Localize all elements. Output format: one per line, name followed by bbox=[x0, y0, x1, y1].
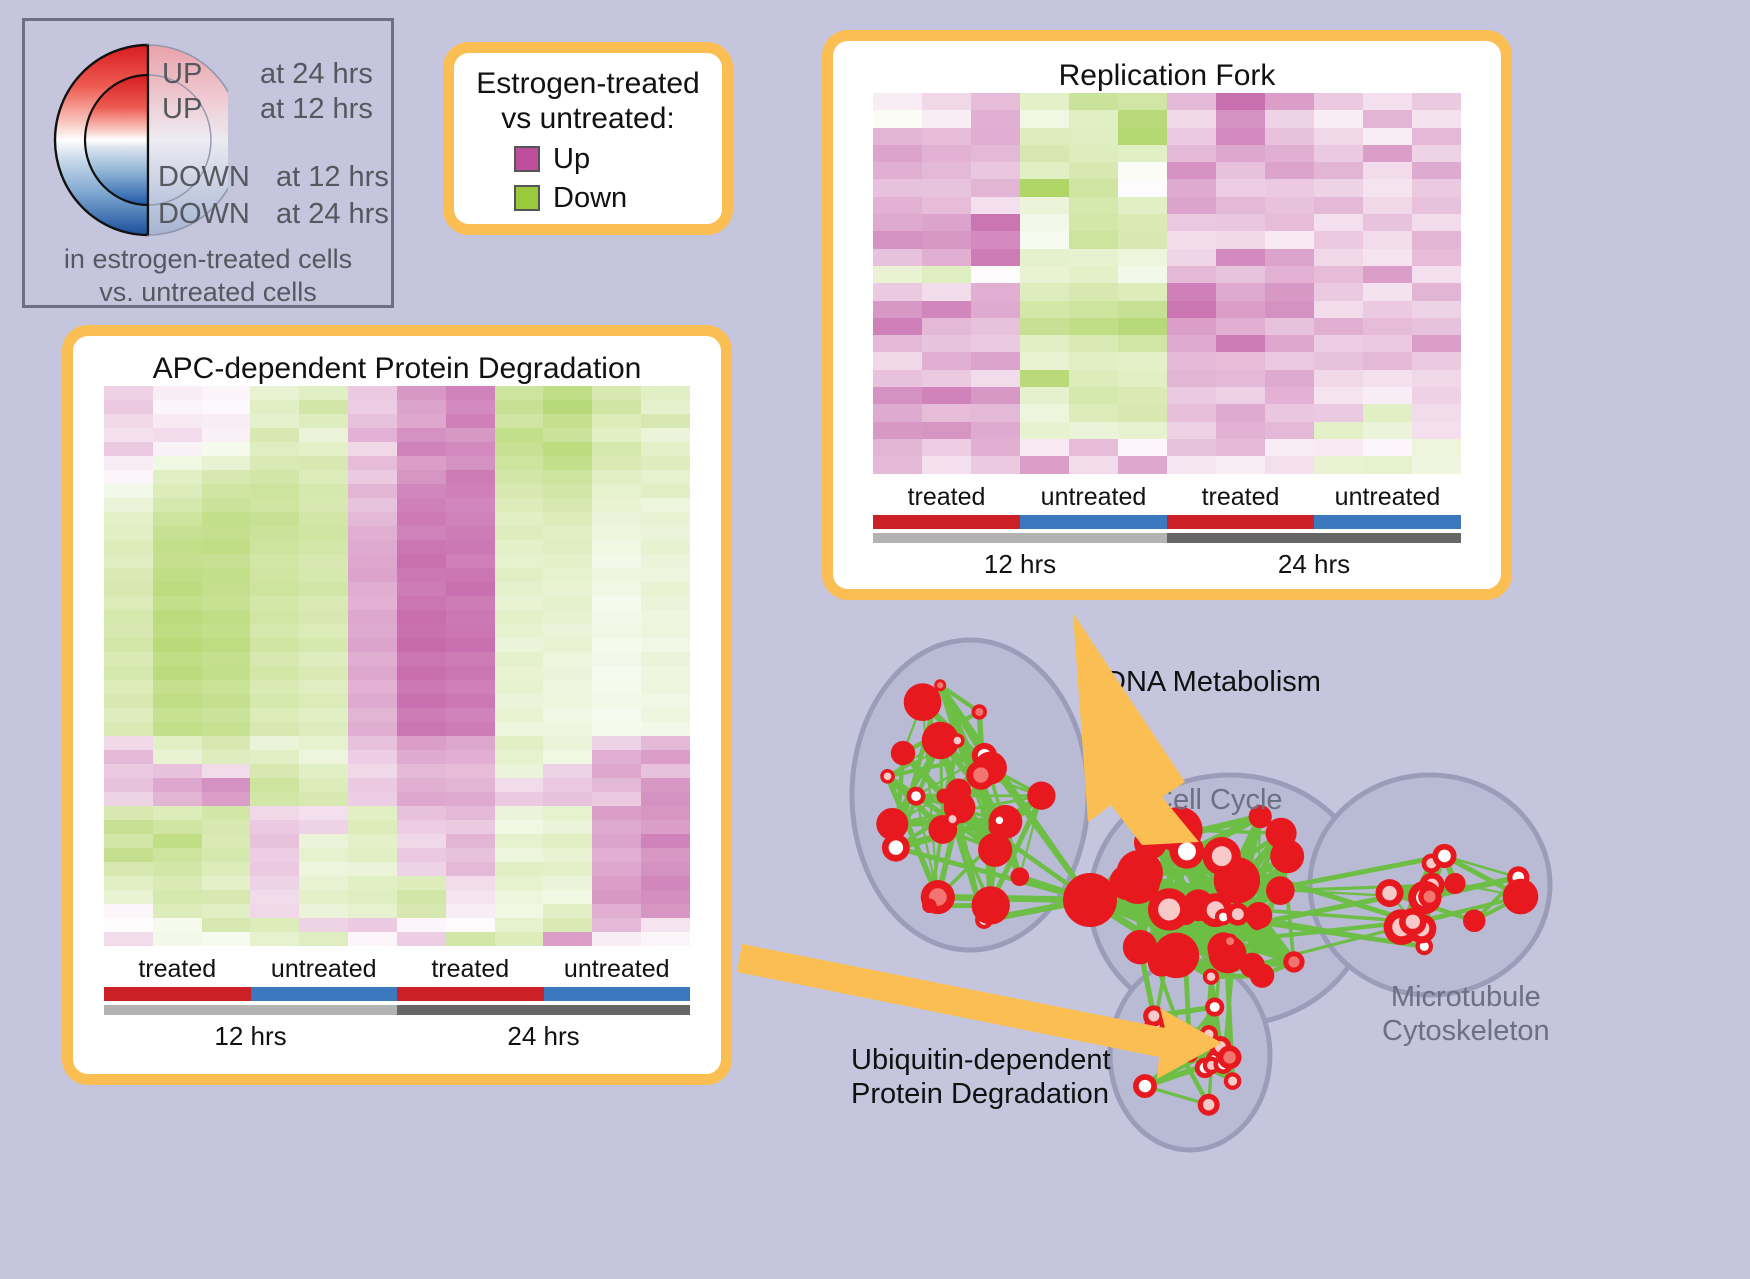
cluster-label-microtubule-cytoskeleton: Microtubule Cytoskeleton bbox=[1382, 980, 1550, 1048]
heatmap-cell bbox=[1412, 93, 1461, 110]
heatmap-cell bbox=[543, 582, 592, 596]
heatmap-cell bbox=[641, 428, 690, 442]
heatmap-cell bbox=[1314, 352, 1363, 369]
heatmap-cell bbox=[250, 652, 299, 666]
heatmap-cell bbox=[1363, 422, 1412, 439]
heatmap-cell bbox=[1265, 422, 1314, 439]
heatmap-cell bbox=[1167, 162, 1216, 179]
heatmap-cell bbox=[1314, 128, 1363, 145]
heatmap-cell bbox=[543, 848, 592, 862]
heatmap-cell bbox=[250, 428, 299, 442]
heatmap-cell bbox=[592, 918, 641, 932]
heatmap-cell bbox=[592, 470, 641, 484]
heatmap-cell bbox=[299, 386, 348, 400]
heatmap-cell bbox=[299, 456, 348, 470]
heatmap-cell bbox=[592, 400, 641, 414]
heatmap-cell bbox=[1314, 93, 1363, 110]
heatmap-cell bbox=[104, 512, 153, 526]
network-node bbox=[966, 760, 995, 789]
apc-group-label-1: untreated bbox=[251, 955, 398, 984]
heatmap-cell bbox=[202, 456, 251, 470]
colorbar-row-2-direction: DOWN bbox=[158, 161, 250, 194]
heatmap-cell bbox=[1118, 179, 1167, 196]
heatmap-cell bbox=[153, 652, 202, 666]
heatmap-cell bbox=[971, 214, 1020, 231]
heatmap-cell bbox=[592, 568, 641, 582]
heatmap-cell bbox=[1363, 93, 1412, 110]
heatmap-cell bbox=[446, 806, 495, 820]
heatmap-cell bbox=[1216, 283, 1265, 300]
heatmap-cell bbox=[641, 722, 690, 736]
heatmap-cell bbox=[1412, 197, 1461, 214]
heatmap-cell bbox=[348, 778, 397, 792]
heatmap-cell bbox=[971, 422, 1020, 439]
network-node bbox=[1143, 1005, 1164, 1026]
heatmap-cell bbox=[543, 834, 592, 848]
network-node bbox=[880, 769, 895, 784]
heatmap-cell bbox=[1069, 352, 1118, 369]
heatmap-cell bbox=[446, 386, 495, 400]
colorbar-footer-line2: vs. untreated cells bbox=[25, 276, 391, 309]
heatmap-cell bbox=[104, 540, 153, 554]
heatmap-cell bbox=[1363, 214, 1412, 231]
heatmap-cell bbox=[495, 736, 544, 750]
heatmap-cell bbox=[543, 862, 592, 876]
heatmap-cell bbox=[971, 145, 1020, 162]
heatmap-cell bbox=[153, 582, 202, 596]
heatmap-cell bbox=[1118, 162, 1167, 179]
heatmap-cell bbox=[922, 439, 971, 456]
apc-group-label-2: treated bbox=[397, 955, 544, 984]
heatmap-cell bbox=[299, 918, 348, 932]
heatmap-cell bbox=[250, 470, 299, 484]
heatmap-cell bbox=[922, 456, 971, 473]
heatmap-cell bbox=[1363, 404, 1412, 421]
heatmap-cell bbox=[104, 806, 153, 820]
heatmap-cell bbox=[250, 792, 299, 806]
heatmap-cell bbox=[348, 792, 397, 806]
heatmap-cell bbox=[1020, 335, 1069, 352]
heatmap-cell bbox=[1118, 266, 1167, 283]
heatmap-cell bbox=[543, 512, 592, 526]
heatmap-cell bbox=[1412, 370, 1461, 387]
heatmap-cell bbox=[592, 526, 641, 540]
heatmap-cell bbox=[1167, 456, 1216, 473]
heatmap-cell bbox=[299, 820, 348, 834]
rf-bar-treated-12 bbox=[873, 515, 1020, 529]
heatmap-cell bbox=[641, 512, 690, 526]
heatmap-cell bbox=[202, 400, 251, 414]
heatmap-cell bbox=[397, 918, 446, 932]
heatmap-cell bbox=[873, 352, 922, 369]
heatmap-cell bbox=[299, 862, 348, 876]
heatmap-cell bbox=[250, 722, 299, 736]
heatmap-cell bbox=[971, 456, 1020, 473]
heatmap-cell bbox=[543, 680, 592, 694]
apc-group-label-0: treated bbox=[104, 955, 251, 984]
heatmap-cell bbox=[1216, 352, 1265, 369]
heatmap-cell bbox=[202, 904, 251, 918]
heatmap-cell bbox=[299, 848, 348, 862]
heatmap-cell bbox=[922, 283, 971, 300]
colorbar-row-1-direction: UP bbox=[162, 93, 202, 126]
rf-time-bar-24 bbox=[1167, 533, 1461, 543]
heatmap-cell bbox=[1167, 283, 1216, 300]
heatmap-cell bbox=[1118, 370, 1167, 387]
heatmap-cell bbox=[592, 666, 641, 680]
heatmap-cell bbox=[641, 498, 690, 512]
heatmap-cell bbox=[543, 526, 592, 540]
heatmap-cell bbox=[348, 904, 397, 918]
heatmap-cell bbox=[153, 890, 202, 904]
apc-heatmap bbox=[104, 386, 690, 946]
heatmap-cell bbox=[348, 722, 397, 736]
heatmap-cell bbox=[1118, 249, 1167, 266]
heatmap-cell bbox=[1412, 318, 1461, 335]
heatmap-cell bbox=[250, 596, 299, 610]
heatmap-cell bbox=[592, 834, 641, 848]
heatmap-cell bbox=[104, 638, 153, 652]
colorbar-row-3-direction: DOWN bbox=[158, 198, 250, 231]
heatmap-cell bbox=[397, 386, 446, 400]
heatmap-cell bbox=[1412, 249, 1461, 266]
heatmap-cell bbox=[641, 470, 690, 484]
heatmap-cell bbox=[397, 792, 446, 806]
cluster-label-cell-cycle: Cell Cycle bbox=[1152, 783, 1283, 817]
heatmap-cell bbox=[397, 680, 446, 694]
colorbar-row-3-time: at 24 hrs bbox=[276, 198, 389, 231]
heatmap-cell bbox=[153, 540, 202, 554]
network-node bbox=[1245, 902, 1272, 929]
heatmap-cell bbox=[299, 708, 348, 722]
heatmap-cell bbox=[1314, 110, 1363, 127]
heatmap-cell bbox=[543, 722, 592, 736]
heatmap-cell bbox=[397, 512, 446, 526]
network-node bbox=[1198, 1094, 1220, 1116]
heatmap-cell bbox=[1118, 456, 1167, 473]
heatmap-cell bbox=[1265, 318, 1314, 335]
heatmap-cell bbox=[202, 568, 251, 582]
colorbar-row-2-time: at 12 hrs bbox=[276, 161, 389, 194]
network-node bbox=[1063, 873, 1117, 927]
heatmap-cell bbox=[153, 484, 202, 498]
network-node bbox=[972, 704, 987, 719]
network-node bbox=[1283, 951, 1304, 972]
heatmap-cell bbox=[250, 876, 299, 890]
heatmap-cell bbox=[348, 428, 397, 442]
heatmap-cell bbox=[446, 680, 495, 694]
heatmap-cell bbox=[1069, 110, 1118, 127]
heatmap-cell bbox=[1412, 214, 1461, 231]
heatmap-cell bbox=[1167, 439, 1216, 456]
heatmap-cell bbox=[971, 128, 1020, 145]
heatmap-cell bbox=[250, 568, 299, 582]
heatmap-cell bbox=[1363, 249, 1412, 266]
apc-bar-treated-24 bbox=[397, 987, 544, 1001]
rf-time-label-12: 12 hrs bbox=[873, 549, 1167, 580]
heatmap-cell bbox=[543, 638, 592, 652]
heatmap-cell bbox=[348, 806, 397, 820]
heatmap-cell bbox=[202, 414, 251, 428]
heatmap-cell bbox=[495, 666, 544, 680]
heatmap-cell bbox=[1314, 179, 1363, 196]
network-node bbox=[1399, 908, 1427, 936]
heatmap-cell bbox=[1412, 128, 1461, 145]
heatmap-cell bbox=[592, 386, 641, 400]
heatmap-cell bbox=[348, 680, 397, 694]
heatmap-cell bbox=[641, 778, 690, 792]
heatmap-cell bbox=[446, 498, 495, 512]
heatmap-cell bbox=[1314, 387, 1363, 404]
heatmap-cell bbox=[873, 439, 922, 456]
heatmap-cell bbox=[250, 820, 299, 834]
heatmap-cell bbox=[104, 708, 153, 722]
heatmap-cell bbox=[446, 834, 495, 848]
heatmap-cell bbox=[299, 904, 348, 918]
heatmap-cell bbox=[971, 231, 1020, 248]
heatmap-cell bbox=[592, 582, 641, 596]
heatmap-cell bbox=[250, 442, 299, 456]
heatmap-cell bbox=[202, 820, 251, 834]
heatmap-cell bbox=[971, 335, 1020, 352]
heatmap-cell bbox=[873, 214, 922, 231]
heatmap-cell bbox=[202, 848, 251, 862]
heatmap-cell bbox=[348, 386, 397, 400]
heatmap-cell bbox=[971, 110, 1020, 127]
heatmap-cell bbox=[495, 512, 544, 526]
heatmap-cell bbox=[543, 484, 592, 498]
heatmap-cell bbox=[1216, 231, 1265, 248]
heatmap-cell bbox=[641, 484, 690, 498]
heatmap-cell bbox=[397, 904, 446, 918]
heatmap-cell bbox=[250, 778, 299, 792]
heatmap-cell bbox=[592, 820, 641, 834]
heatmap-cell bbox=[104, 764, 153, 778]
heatmap-cell bbox=[397, 848, 446, 862]
heatmap-cell bbox=[299, 428, 348, 442]
heatmap-cell bbox=[1363, 318, 1412, 335]
heatmap-cell bbox=[641, 582, 690, 596]
heatmap-cell bbox=[1069, 387, 1118, 404]
heatmap-cell bbox=[202, 596, 251, 610]
heatmap-cell bbox=[153, 750, 202, 764]
apc-time-bar-12 bbox=[104, 1005, 397, 1015]
heatmap-cell bbox=[1314, 456, 1363, 473]
heatmap-cell bbox=[250, 918, 299, 932]
rf-bar-untreated-24 bbox=[1314, 515, 1461, 529]
heatmap-cell bbox=[397, 540, 446, 554]
heatmap-cell bbox=[348, 400, 397, 414]
network-node bbox=[950, 733, 965, 748]
heatmap-cell bbox=[397, 834, 446, 848]
heatmap-cell bbox=[397, 652, 446, 666]
heatmap-cell bbox=[153, 778, 202, 792]
heatmap-cell bbox=[153, 862, 202, 876]
heatmap-cell bbox=[299, 624, 348, 638]
heatmap-cell bbox=[202, 862, 251, 876]
heatmap-cell bbox=[873, 128, 922, 145]
heatmap-cell bbox=[202, 442, 251, 456]
heatmap-cell bbox=[1118, 387, 1167, 404]
heatmap-cell bbox=[250, 736, 299, 750]
heatmap-cell bbox=[202, 806, 251, 820]
rf-group-label-3: untreated bbox=[1314, 483, 1461, 512]
heatmap-cell bbox=[202, 750, 251, 764]
heatmap-cell bbox=[153, 736, 202, 750]
heatmap-cell bbox=[1216, 456, 1265, 473]
heatmap-cell bbox=[1118, 318, 1167, 335]
heatmap-cell bbox=[971, 439, 1020, 456]
heatmap-cell bbox=[1118, 422, 1167, 439]
heatmap-cell bbox=[543, 596, 592, 610]
heatmap-cell bbox=[1216, 249, 1265, 266]
heatmap-cell bbox=[543, 414, 592, 428]
heatmap-cell bbox=[202, 526, 251, 540]
heatmap-cell bbox=[1265, 439, 1314, 456]
heatmap-cell bbox=[873, 110, 922, 127]
heatmap-cell bbox=[1118, 128, 1167, 145]
heatmap-cell bbox=[922, 145, 971, 162]
heatmap-cell bbox=[299, 638, 348, 652]
heatmap-cell bbox=[202, 638, 251, 652]
network-node bbox=[1432, 844, 1456, 868]
heatmap-cell bbox=[202, 778, 251, 792]
heatmap-cell bbox=[495, 750, 544, 764]
heatmap-cell bbox=[348, 596, 397, 610]
heatmap-cell bbox=[1069, 456, 1118, 473]
heatmap-cell bbox=[1167, 335, 1216, 352]
heatmap-cell bbox=[1167, 266, 1216, 283]
heatmap-cell bbox=[202, 932, 251, 946]
heatmap-cell bbox=[543, 820, 592, 834]
heatmap-cell bbox=[1216, 422, 1265, 439]
heatmap-cell bbox=[641, 680, 690, 694]
heatmap-cell bbox=[495, 834, 544, 848]
heatmap-cell bbox=[1265, 93, 1314, 110]
heatmap-cell bbox=[1363, 266, 1412, 283]
heatmap-cell bbox=[1069, 266, 1118, 283]
heatmap-cell bbox=[1412, 439, 1461, 456]
heatmap-cell bbox=[1363, 231, 1412, 248]
heatmap-cell bbox=[104, 526, 153, 540]
heatmap-cell bbox=[153, 526, 202, 540]
heatmap-cell bbox=[592, 596, 641, 610]
heatmap-cell bbox=[446, 554, 495, 568]
heatmap-cell bbox=[446, 470, 495, 484]
heatmap-cell bbox=[348, 498, 397, 512]
heatmap-cell bbox=[1118, 93, 1167, 110]
heatmap-cell bbox=[922, 370, 971, 387]
heatmap-cell bbox=[1069, 422, 1118, 439]
heatmap-cell bbox=[397, 638, 446, 652]
heatmap-cell bbox=[299, 582, 348, 596]
heatmap-cell bbox=[641, 610, 690, 624]
heatmap-cell bbox=[641, 932, 690, 946]
heatmap-cell bbox=[202, 736, 251, 750]
heatmap-cell bbox=[641, 442, 690, 456]
heatmap-cell bbox=[641, 792, 690, 806]
heatmap-cell bbox=[1363, 352, 1412, 369]
network-node bbox=[1463, 910, 1486, 933]
heatmap-cell bbox=[348, 568, 397, 582]
heatmap-cell bbox=[495, 400, 544, 414]
heatmap-cell bbox=[1412, 301, 1461, 318]
heatmap-cell bbox=[1167, 404, 1216, 421]
legend-item-up: Up bbox=[454, 143, 722, 176]
heatmap-cell bbox=[250, 750, 299, 764]
heatmap-cell bbox=[153, 624, 202, 638]
heatmap-cell bbox=[543, 400, 592, 414]
heatmap-cell bbox=[543, 386, 592, 400]
heatmap-cell bbox=[971, 249, 1020, 266]
network-node bbox=[1376, 879, 1404, 907]
legend-item-down: Down bbox=[454, 182, 722, 215]
heatmap-cell bbox=[202, 890, 251, 904]
heatmap-cell bbox=[543, 694, 592, 708]
heatmap-cell bbox=[397, 568, 446, 582]
heatmap-cell bbox=[1167, 318, 1216, 335]
heatmap-cell bbox=[971, 301, 1020, 318]
heatmap-cell bbox=[1265, 231, 1314, 248]
network-node bbox=[891, 741, 915, 765]
heatmap-cell bbox=[299, 442, 348, 456]
heatmap-cell bbox=[495, 890, 544, 904]
heatmap-cell bbox=[971, 179, 1020, 196]
heatmap-cell bbox=[1020, 93, 1069, 110]
heatmap-cell bbox=[153, 512, 202, 526]
heatmap-cell bbox=[348, 820, 397, 834]
heatmap-cell bbox=[202, 428, 251, 442]
heatmap-cell bbox=[1216, 214, 1265, 231]
heatmap-cell bbox=[153, 456, 202, 470]
heatmap-cell bbox=[1412, 283, 1461, 300]
heatmap-cell bbox=[299, 932, 348, 946]
heatmap-cell bbox=[348, 764, 397, 778]
rf-column-group-labels: treated untreated treated untreated bbox=[873, 483, 1461, 512]
heatmap-cell bbox=[1216, 370, 1265, 387]
heatmap-cell bbox=[299, 540, 348, 554]
network-node bbox=[922, 898, 937, 913]
heatmap-cell bbox=[104, 484, 153, 498]
heatmap-cell bbox=[348, 554, 397, 568]
heatmap-cell bbox=[153, 834, 202, 848]
heatmap-cell bbox=[153, 554, 202, 568]
heatmap-cell bbox=[202, 610, 251, 624]
heatmap-cell bbox=[1167, 249, 1216, 266]
heatmap-cell bbox=[397, 890, 446, 904]
heatmap-cell bbox=[250, 484, 299, 498]
heatmap-cell bbox=[348, 470, 397, 484]
legend-label-up: Up bbox=[553, 143, 590, 176]
network-node bbox=[992, 813, 1006, 827]
heatmap-cell bbox=[1216, 404, 1265, 421]
heatmap-cell bbox=[971, 197, 1020, 214]
network-node bbox=[1182, 1046, 1198, 1062]
heatmap-cell bbox=[153, 596, 202, 610]
heatmap-cell bbox=[1020, 318, 1069, 335]
heatmap-cell bbox=[641, 554, 690, 568]
heatmap-cell bbox=[202, 498, 251, 512]
heatmap-cell bbox=[543, 568, 592, 582]
heatmap-cell bbox=[592, 540, 641, 554]
heatmap-cell bbox=[641, 386, 690, 400]
heatmap-cell bbox=[1265, 283, 1314, 300]
network-node bbox=[1418, 885, 1441, 908]
heatmap-cell bbox=[446, 540, 495, 554]
colorbar-legend-box: UP at 24 hrs UP at 12 hrs DOWN at 12 hrs… bbox=[22, 18, 394, 308]
heatmap-cell bbox=[299, 400, 348, 414]
heatmap-cell bbox=[202, 624, 251, 638]
